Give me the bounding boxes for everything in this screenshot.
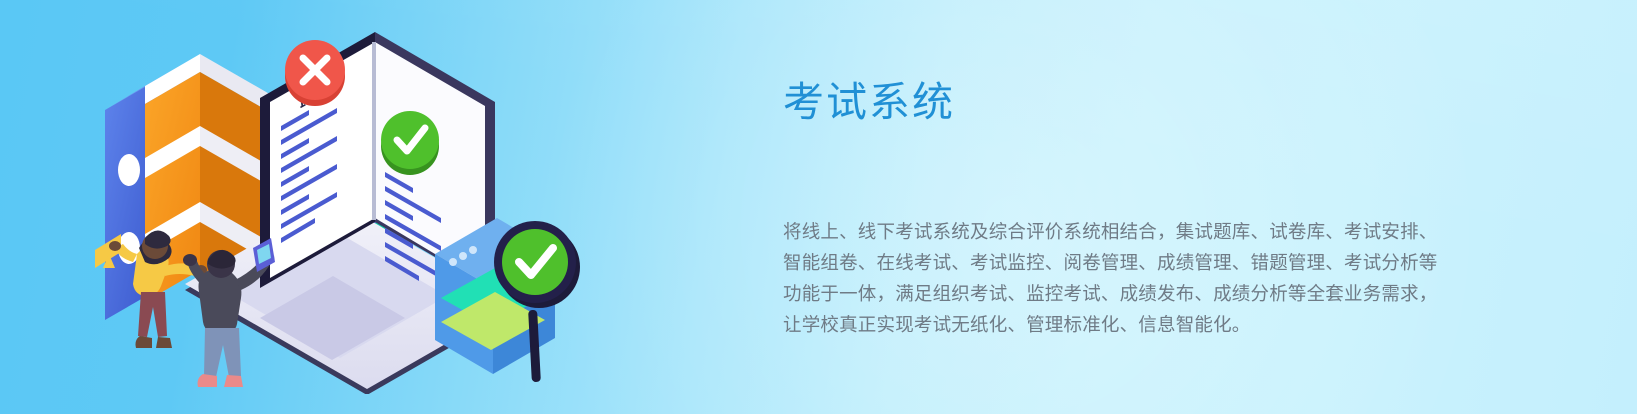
description-block: 将线上、线下考试系统及综合评价系统相结合，集试题库、试卷库、考试安排、 智能组卷… [783, 217, 1503, 341]
description-line: 将线上、线下考试系统及综合评价系统相结合，集试题库、试卷库、考试安排、 [783, 217, 1503, 248]
description-line: 让学校真正实现考试无纸化、管理标准化、信息智能化。 [783, 310, 1503, 341]
badge-correct-icon [381, 111, 439, 175]
page-title: 考试系统 [783, 78, 1503, 127]
description-lines: 将线上、线下考试系统及综合评价系统相结合，集试题库、试卷库、考试安排、 智能组卷… [783, 217, 1503, 341]
exam-system-isometric-illustration: A B [75, 22, 595, 394]
banner-copy: 考试系统 将线上、线下考试系统及综合评价系统相结合，集试题库、试卷库、考试安排、… [783, 78, 1503, 341]
description-line: 功能于一体，满足组织考试、监控考试、成绩发布、成绩分析等全套业务需求， [783, 279, 1503, 310]
exam-system-banner: A B [0, 0, 1637, 414]
badge-wrong-icon [285, 40, 345, 106]
description-line: 智能组卷、在线考试、考试监控、阅卷管理、成绩管理、错题管理、考试分析等 [783, 248, 1503, 279]
